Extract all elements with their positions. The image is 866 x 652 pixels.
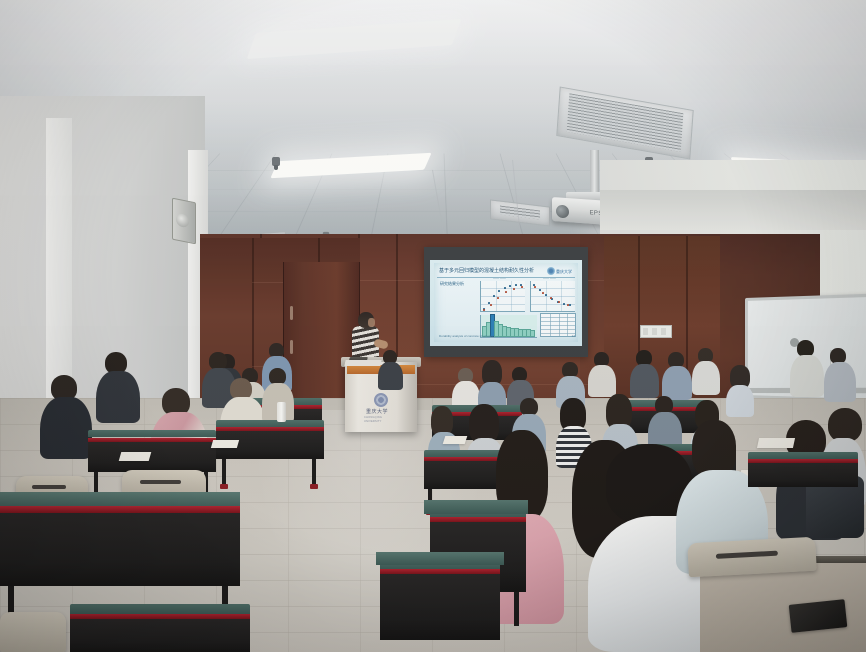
lecture-hall-photo: EPSON 基于多元回归模型的混凝土结构耐久性分析 — [0, 0, 866, 652]
podium-paper — [344, 360, 381, 366]
paper-sheet — [443, 436, 468, 444]
paper-sheet — [757, 438, 795, 448]
desk-top-surface — [424, 500, 528, 514]
desk-row-foreground — [70, 604, 250, 652]
projected-slide: 基于多元回归模型的混凝土结构耐久性分析 重庆大学 研究结果分析 — [434, 263, 578, 342]
podium-university-subtitle: CHONGQING UNIVERSITY — [364, 416, 398, 424]
desk-row — [748, 452, 858, 492]
wall-control-panel-right[interactable] — [640, 325, 672, 338]
presenter-face — [368, 318, 375, 327]
slide-line-chart-a: —— —— — [480, 281, 525, 312]
slide-title: 基于多元回归模型的混凝土结构耐久性分析 — [439, 267, 543, 276]
desk-trim — [0, 506, 240, 513]
slide-subheading: 研究结果分析 — [440, 280, 470, 287]
paper-sheet — [211, 440, 239, 448]
right-wall-upper — [600, 190, 866, 230]
projector-lens-icon — [556, 205, 569, 219]
sprinkler-head-left — [272, 157, 280, 166]
slide-line-chart-b: —— —— — [530, 281, 575, 312]
seat-back — [687, 537, 817, 578]
slide-logo-text: 重庆大学 — [556, 268, 574, 275]
slide-footer: Durability analysis of concrete structur… — [439, 334, 529, 339]
podium-university-name: 重庆大学 — [366, 409, 396, 416]
slide-page-number: 12 — [565, 334, 575, 339]
seat-back — [0, 612, 66, 652]
university-logo-icon — [547, 267, 555, 275]
notebook — [119, 452, 152, 461]
desk-row-foreground — [380, 560, 500, 652]
water-bottle — [277, 402, 286, 422]
desk-top-surface — [376, 552, 504, 565]
smartphone[interactable] — [789, 599, 848, 633]
projector-mount-pole — [590, 150, 599, 196]
university-emblem-icon — [374, 393, 388, 407]
